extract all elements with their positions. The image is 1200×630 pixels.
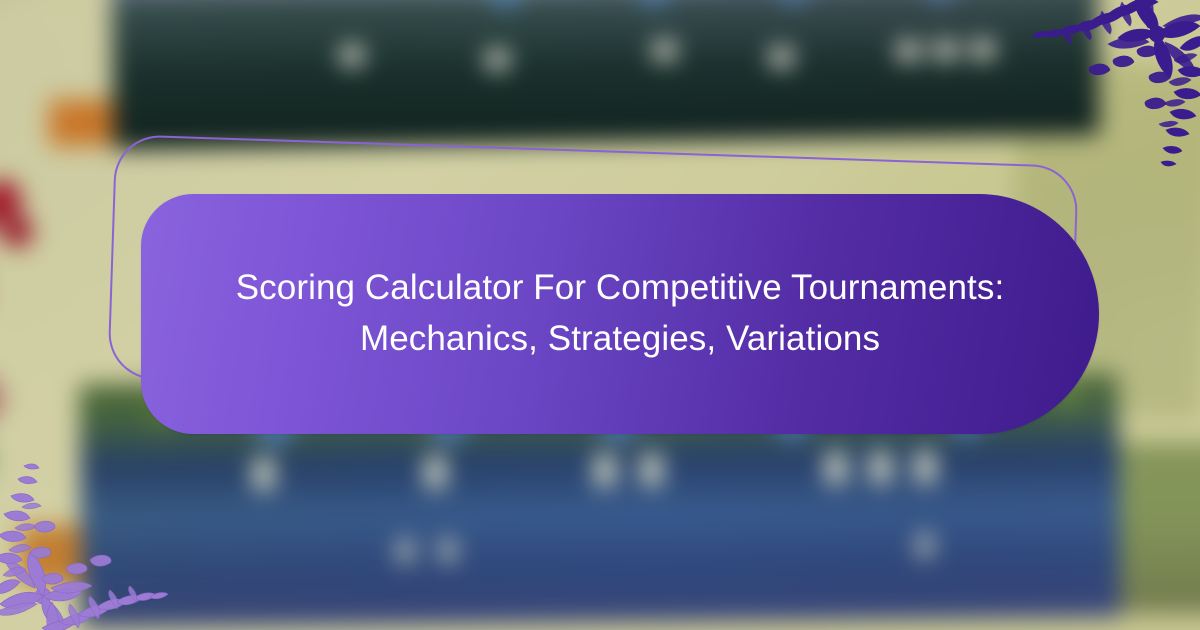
game-piece: [485, 50, 509, 69]
board-space-marker: [636, 0, 672, 7]
page-title: Scoring Calculator For Competitive Tourn…: [201, 263, 1039, 365]
scoring-token: [871, 452, 890, 484]
scoring-token: [918, 534, 931, 557]
game-piece: [770, 48, 794, 67]
scoring-token: [826, 452, 845, 484]
red-dice-cluster: [0, 174, 42, 261]
game-board-upper: [111, 0, 1100, 150]
game-piece: [934, 41, 958, 60]
title-card: Scoring Calculator For Competitive Tourn…: [141, 194, 1099, 434]
scoring-token: [254, 458, 273, 490]
game-piece: [897, 42, 921, 61]
scoring-token: [441, 539, 454, 562]
scoring-token: [915, 451, 934, 483]
plant-object: [0, 0, 49, 49]
board-space-marker: [922, 0, 958, 2]
share-card-canvas: Scoring Calculator For Competitive Tourn…: [0, 0, 1200, 630]
game-piece: [653, 41, 677, 60]
scoring-token: [642, 454, 661, 486]
scoring-token: [399, 540, 412, 563]
board-space-marker: [776, 0, 812, 5]
scoring-token: [595, 455, 614, 487]
scoring-token: [426, 457, 445, 489]
game-piece: [340, 46, 364, 65]
board-space-marker: [488, 0, 524, 9]
game-piece: [971, 41, 995, 60]
